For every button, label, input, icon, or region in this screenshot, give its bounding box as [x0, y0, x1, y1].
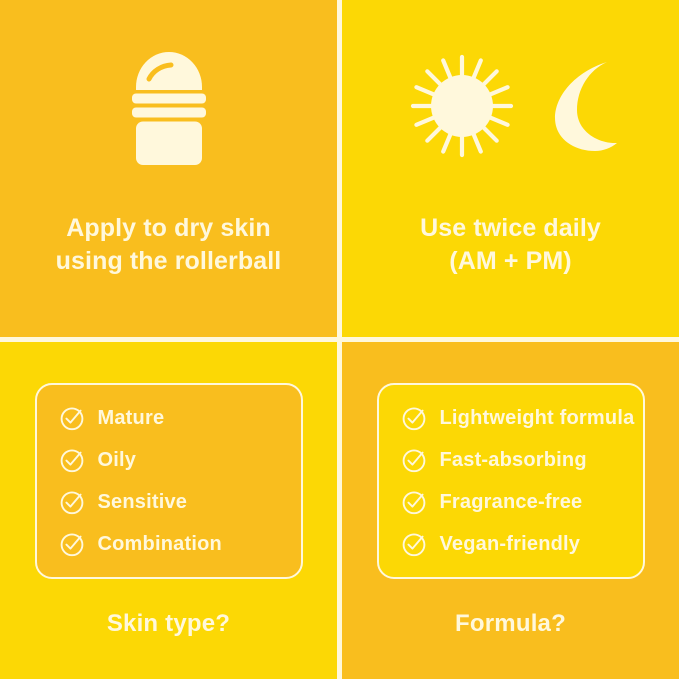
list-item-label: Fragrance-free	[440, 492, 583, 512]
list-item[interactable]: Fast-absorbing	[401, 447, 643, 473]
check-circle-icon	[59, 405, 85, 431]
list-item-label: Fast-absorbing	[440, 450, 587, 470]
frequency-caption-line1: Use twice daily	[352, 212, 669, 245]
rollerball-bottle-icon	[126, 47, 212, 165]
check-circle-icon	[401, 489, 427, 515]
apply-caption: Apply to dry skin using the rollerball	[0, 212, 337, 277]
formula-checklist: Lightweight formula Fast-absorbing Fragr…	[377, 383, 645, 579]
check-circle-icon	[401, 531, 427, 557]
sun-icon	[399, 43, 525, 169]
list-item[interactable]: Lightweight formula	[401, 405, 643, 431]
check-circle-icon	[59, 531, 85, 557]
panel-apply-to-dry-skin: Apply to dry skin using the rollerball	[0, 0, 337, 337]
formula-caption: Formula?	[342, 610, 679, 638]
check-circle-icon	[59, 447, 85, 473]
panel-use-twice-daily: Use twice daily (AM + PM)	[342, 0, 679, 337]
rollerball-icon-area	[0, 0, 337, 212]
frequency-caption: Use twice daily (AM + PM)	[342, 212, 679, 277]
list-item[interactable]: Oily	[59, 447, 301, 473]
list-item-label: Lightweight formula	[440, 408, 635, 428]
list-item-label: Oily	[98, 450, 137, 470]
infographic-grid: Apply to dry skin using the rollerball	[0, 0, 679, 679]
list-item[interactable]: Combination	[59, 531, 301, 557]
panel-formula: Lightweight formula Fast-absorbing Fragr…	[342, 342, 679, 679]
skin-type-caption: Skin type?	[0, 610, 337, 638]
apply-caption-line1: Apply to dry skin	[10, 212, 327, 245]
check-circle-icon	[59, 489, 85, 515]
list-item[interactable]: Mature	[59, 405, 301, 431]
crescent-moon-icon	[535, 56, 623, 156]
list-item[interactable]: Fragrance-free	[401, 489, 643, 515]
check-circle-icon	[401, 405, 427, 431]
sun-moon-icon-area	[342, 0, 679, 212]
skin-type-checklist: Mature Oily Sensitive	[35, 383, 303, 579]
list-item-label: Mature	[98, 408, 165, 428]
list-item[interactable]: Sensitive	[59, 489, 301, 515]
list-item-label: Combination	[98, 534, 222, 554]
check-circle-icon	[401, 447, 427, 473]
apply-caption-line2: using the rollerball	[10, 245, 327, 278]
list-item-label: Vegan-friendly	[440, 534, 581, 554]
list-item[interactable]: Vegan-friendly	[401, 531, 643, 557]
panel-skin-type: Mature Oily Sensitive	[0, 342, 337, 679]
frequency-caption-line2: (AM + PM)	[352, 245, 669, 278]
list-item-label: Sensitive	[98, 492, 188, 512]
